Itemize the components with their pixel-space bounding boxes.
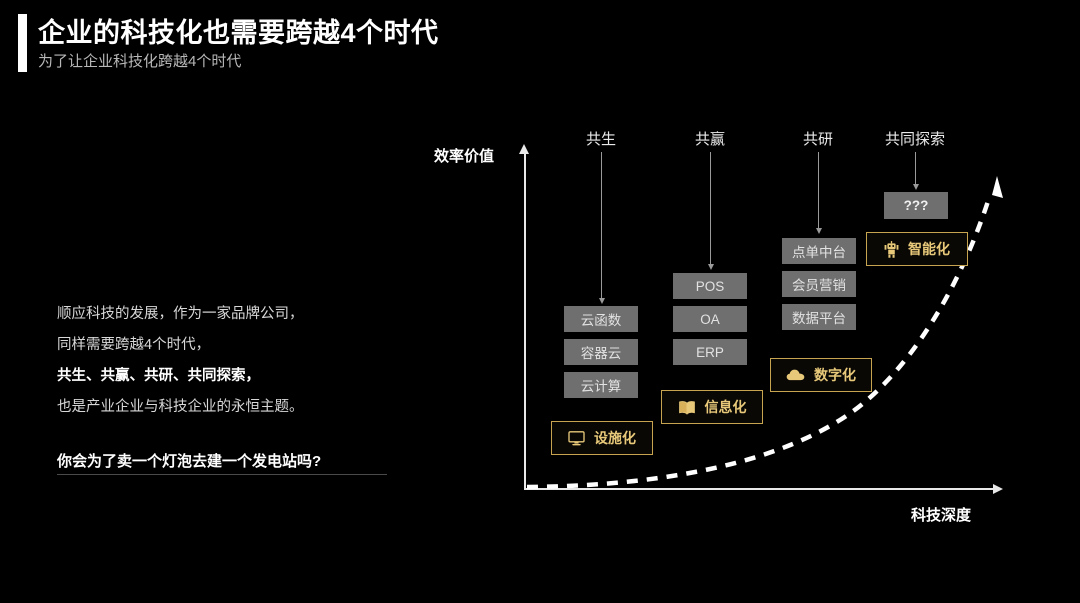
book-icon [678,400,696,415]
milestone-informatization[interactable]: 信息化 [661,390,763,424]
evolution-chart: 效率价值 科技深度 共生 共赢 共研 共同探索 云函数 容器云 云计算 [0,0,1080,603]
column-header-4: 共同探索 [885,128,945,149]
tech-box-order-midplatform[interactable]: 点单中台 [782,238,856,264]
connector-line-4 [915,152,916,186]
y-axis-line [524,152,526,489]
tech-box-container-cloud[interactable]: 容器云 [564,339,638,365]
monitor-icon [568,431,585,446]
robot-icon [884,241,899,258]
x-axis-arrow-icon [993,484,1003,494]
slide-root: 企业的科技化也需要跨越4个时代 为了让企业科技化跨越4个时代 顺应科技的发展，作… [0,0,1080,603]
column-header-2: 共赢 [695,128,725,149]
column-header-3: 共研 [803,128,833,149]
x-axis-label: 科技深度 [911,504,971,525]
tech-box-pos[interactable]: POS [673,273,747,299]
y-axis-arrow-icon [519,144,529,154]
connector-arrow-1-icon [599,298,605,304]
tech-box-oa[interactable]: OA [673,306,747,332]
connector-arrow-2-icon [708,264,714,270]
tech-box-cloud-computing[interactable]: 云计算 [564,372,638,398]
milestone-digitalization[interactable]: 数字化 [770,358,872,392]
tech-box-member-marketing[interactable]: 会员营销 [782,271,856,297]
milestone-infrastructure-label: 设施化 [594,428,636,448]
connector-line-2 [710,152,711,266]
connector-arrow-4-icon [913,184,919,190]
milestone-intelligence-label: 智能化 [908,239,950,259]
tech-box-erp[interactable]: ERP [673,339,747,365]
column-header-1: 共生 [586,128,616,149]
cloud-icon [786,368,805,382]
tech-box-cloud-function[interactable]: 云函数 [564,306,638,332]
milestone-infrastructure[interactable]: 设施化 [551,421,653,455]
milestone-digitalization-label: 数字化 [814,365,856,385]
milestone-intelligence[interactable]: 智能化 [866,232,968,266]
x-axis-line [524,488,996,490]
connector-arrow-3-icon [816,228,822,234]
connector-line-3 [818,152,819,230]
y-axis-label: 效率价值 [434,145,494,166]
tech-box-unknown[interactable]: ??? [884,192,948,219]
milestone-informatization-label: 信息化 [705,397,747,417]
tech-box-data-platform[interactable]: 数据平台 [782,304,856,330]
connector-line-1 [601,152,602,300]
